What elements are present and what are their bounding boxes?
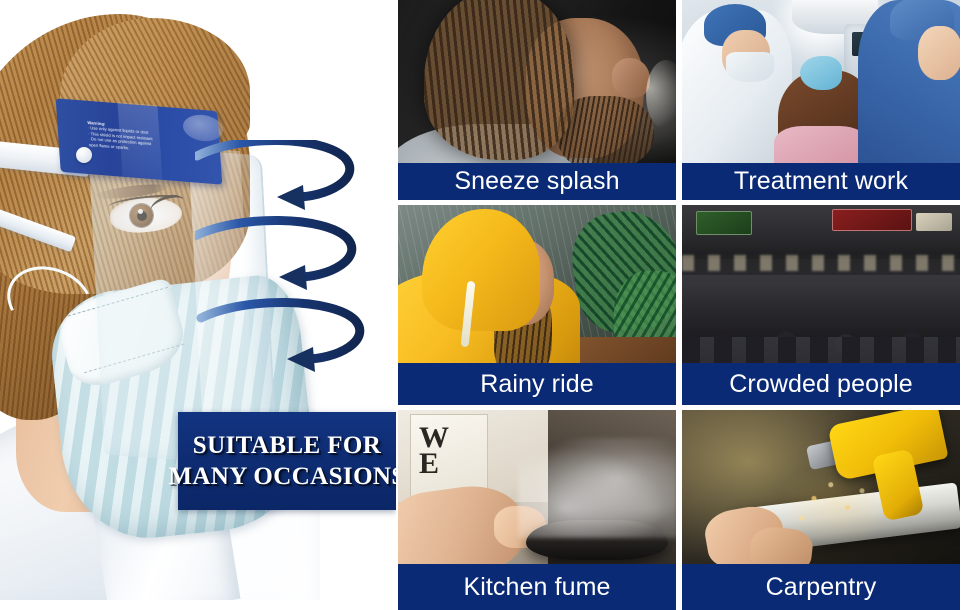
wrap-arrow-group (195, 140, 395, 390)
station-lights (682, 255, 960, 271)
headline-line-1: SUITABLE FOR (193, 430, 381, 461)
raincoat-hood (422, 209, 540, 331)
dentist-right-face (918, 26, 960, 80)
grid-cell-kitchen-fume[interactable]: WE Kitchen fume (398, 410, 676, 610)
dentist-left-mask (726, 52, 774, 82)
headline-line-2: MANY OCCASIONS (168, 461, 396, 492)
grid-cell-treatment-work[interactable]: Treatment work (682, 0, 960, 200)
sneeze-hair (424, 0, 574, 160)
caption-crowded-people: Crowded people (682, 363, 960, 405)
caption-sneeze-splash: Sneeze splash (398, 163, 676, 200)
kitchen-steam (518, 438, 676, 538)
grid-cell-sneeze-splash[interactable]: Sneeze splash (398, 0, 676, 200)
station-sign-white (916, 213, 952, 231)
station-sign-red (832, 209, 912, 231)
occasions-grid: Sneeze splash Treatment work (398, 0, 970, 600)
grid-cell-crowded-people[interactable]: Crowded people (682, 205, 960, 405)
grid-cell-carpentry[interactable]: Carpentry (682, 410, 960, 610)
caption-rainy-ride: Rainy ride (398, 363, 676, 405)
station-sign-green (696, 211, 752, 235)
grid-cell-rainy-ride[interactable]: Rainy ride (398, 205, 676, 405)
sneeze-nose (612, 58, 650, 98)
left-hero-panel: Warning: · Use only against liquids or d… (0, 0, 396, 600)
wrap-arrow-1 (197, 140, 350, 210)
caption-carpentry: Carpentry (682, 564, 960, 610)
promo-banner: Warning: · Use only against liquids or d… (0, 0, 970, 600)
wrap-arrow-2 (195, 220, 352, 290)
wrap-arrow-3 (201, 302, 360, 372)
caption-treatment-work: Treatment work (682, 163, 960, 200)
sawdust-sparks (778, 468, 898, 544)
headband-rivet (76, 147, 92, 163)
headline-box: SUITABLE FOR MANY OCCASIONS (178, 412, 396, 510)
nitrile-glove (800, 56, 842, 90)
caption-kitchen-fume: Kitchen fume (398, 564, 676, 610)
